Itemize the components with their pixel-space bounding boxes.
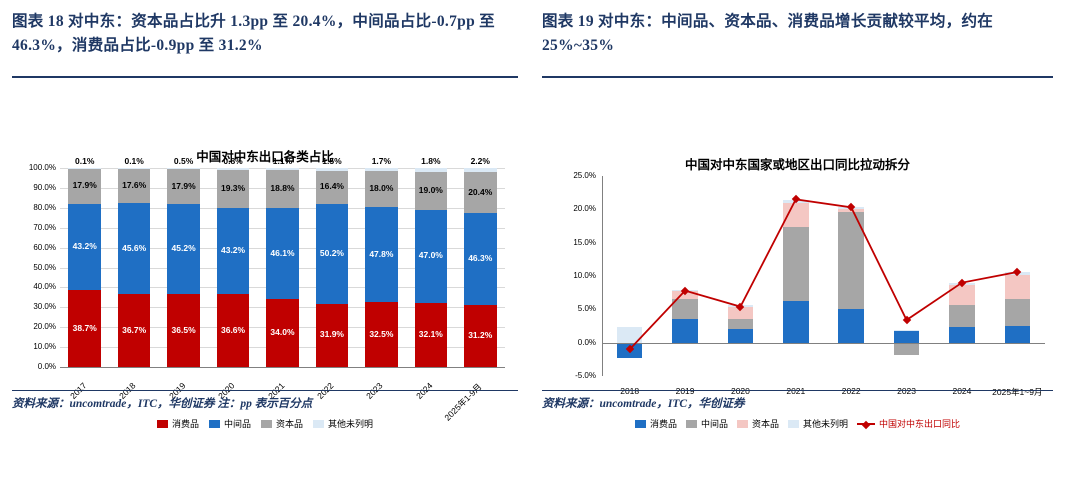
figure-18-source: 资料来源：uncomtrade，ITC，华创证券 注：pp 表示百分点	[12, 395, 312, 411]
figure-19-title-block: 图表 19 对中东：中间品、资本品、消费品增长贡献较平均，约在 25%~35%	[530, 0, 1065, 64]
figure-18-title-block: 图表 18 对中东：资本品占比升 1.3pp 至 20.4%，中间品占比-0.7…	[0, 0, 530, 64]
bar-value-label: 36.7%	[109, 325, 158, 335]
bar-segment	[464, 168, 497, 172]
bar-value-label: 31.2%	[456, 330, 505, 340]
legend-swatch	[788, 420, 799, 428]
y-tick-label: 50.0%	[18, 263, 56, 272]
bar-value-label: 43.2%	[208, 245, 257, 255]
legend-swatch	[737, 420, 748, 428]
y-tick-label: 70.0%	[18, 223, 56, 232]
figure-18-title: 图表 18 对中东：资本品占比升 1.3pp 至 20.4%，中间品占比-0.7…	[12, 10, 518, 58]
y-tick-label: 30.0%	[18, 302, 56, 311]
x-tick-label: 2025年1~9月	[977, 386, 1057, 398]
bar-value-label: 34.0%	[258, 327, 307, 337]
y-tick-label: 10.0%	[18, 342, 56, 351]
bar-value-label: 0.1%	[109, 156, 158, 166]
bar-value-label: 18.8%	[258, 183, 307, 193]
legend-swatch	[261, 420, 272, 428]
y-tick-label: 60.0%	[18, 243, 56, 252]
bar-value-label: 1.7%	[357, 156, 406, 166]
bar-value-label: 46.3%	[456, 253, 505, 263]
y-tick-label: 40.0%	[18, 282, 56, 291]
y-tick-label: 90.0%	[18, 183, 56, 192]
x-axis-line	[60, 367, 505, 368]
bar-value-label: 32.1%	[406, 329, 455, 339]
bar-value-label: 0.1%	[60, 156, 109, 166]
bar-value-label: 43.2%	[60, 241, 109, 251]
bar-value-label: 17.6%	[109, 180, 158, 190]
legend-swatch	[313, 420, 324, 428]
bar-value-label: 47.0%	[406, 250, 455, 260]
bar-value-label: 38.7%	[60, 323, 109, 333]
bar-value-label: 17.9%	[60, 180, 109, 190]
figure-19-title: 图表 19 对中东：中间品、资本品、消费品增长贡献较平均，约在 25%~35%	[542, 10, 1053, 58]
line-path	[630, 199, 1018, 349]
bar-value-label: 19.3%	[208, 183, 257, 193]
bar-value-label: 47.8%	[357, 249, 406, 259]
bar-value-label: 45.6%	[109, 243, 158, 253]
bar-value-label: 0.8%	[208, 156, 257, 166]
bar-value-label: 50.2%	[307, 248, 356, 258]
bar-value-label: 36.5%	[159, 325, 208, 335]
bar-value-label: 45.2%	[159, 243, 208, 253]
bar-value-label: 17.9%	[159, 181, 208, 191]
bar-segment	[316, 168, 349, 171]
bar-value-label: 1.8%	[406, 156, 455, 166]
figure-18-source-rule	[12, 390, 518, 391]
bar-segment	[167, 168, 200, 169]
bar-value-label: 0.5%	[159, 156, 208, 166]
y-tick-label: 80.0%	[18, 203, 56, 212]
bar-segment	[365, 168, 398, 171]
bar-value-label: 20.4%	[456, 187, 505, 197]
legend-swatch	[686, 420, 697, 428]
legend-swatch	[157, 420, 168, 428]
bar-segment	[266, 168, 299, 170]
figure-19-panel: 图表 19 对中东：中间品、资本品、消费品增长贡献较平均，约在 25%~35% …	[530, 0, 1065, 419]
figure-18-title-rule	[12, 76, 518, 78]
figure-19-source-rule	[542, 390, 1053, 391]
bar-value-label: 19.0%	[406, 185, 455, 195]
figure-19-source: 资料来源：uncomtrade，ITC，华创证券	[542, 395, 745, 411]
figure-18-panel: 图表 18 对中东：资本品占比升 1.3pp 至 20.4%，中间品占比-0.7…	[0, 0, 530, 419]
bar-value-label: 1.5%	[307, 156, 356, 166]
legend-line-marker	[857, 423, 875, 425]
y-tick-label: 20.0%	[18, 322, 56, 331]
bar-segment	[217, 168, 250, 170]
bar-value-label: 1.1%	[258, 156, 307, 166]
bar-value-label: 16.4%	[307, 181, 356, 191]
legend-swatch	[209, 420, 220, 428]
bar-value-label: 2.2%	[456, 156, 505, 166]
bar-value-label: 46.1%	[258, 248, 307, 258]
bar-value-label: 18.0%	[357, 183, 406, 193]
y-tick-label: 100.0%	[18, 163, 56, 172]
bar-value-label: 31.9%	[307, 329, 356, 339]
legend-swatch	[635, 420, 646, 428]
y-tick-label: 0.0%	[18, 362, 56, 371]
bar-segment	[415, 168, 448, 172]
bar-value-label: 36.6%	[208, 325, 257, 335]
bar-value-label: 32.5%	[357, 329, 406, 339]
